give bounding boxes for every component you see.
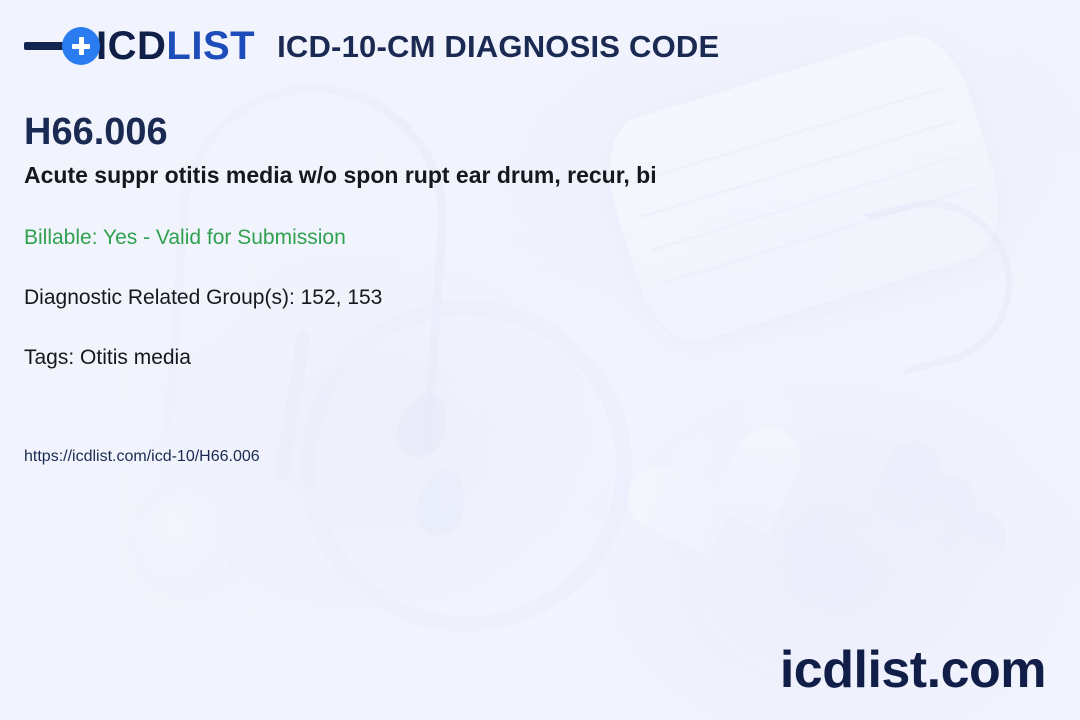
icdlist-logo[interactable]: ICDLIST — [24, 26, 255, 66]
header: ICDLIST ICD-10-CM DIAGNOSIS CODE — [24, 26, 719, 66]
logo-word-list: LIST — [166, 24, 255, 68]
logo-word-icd: ICD — [96, 24, 166, 68]
card-content: ICDLIST ICD-10-CM DIAGNOSIS CODE H66.006… — [0, 0, 1080, 720]
plus-circle-icon — [62, 27, 100, 65]
tags-line: Tags: Otitis media — [24, 345, 191, 370]
footer-brand: icdlist.com — [780, 644, 1046, 696]
logo-wordmark: ICDLIST — [96, 26, 255, 66]
code-details: H66.006 Acute suppr otitis media w/o spo… — [24, 113, 1024, 190]
diagnosis-code: H66.006 — [24, 113, 1024, 153]
billable-status: Billable: Yes - Valid for Submission — [24, 225, 346, 250]
diagnosis-description: Acute suppr otitis media w/o spon rupt e… — [24, 161, 1024, 190]
diagnostic-related-groups: Diagnostic Related Group(s): 152, 153 — [24, 285, 382, 310]
source-url[interactable]: https://icdlist.com/icd-10/H66.006 — [24, 447, 260, 466]
page-title: ICD-10-CM DIAGNOSIS CODE — [277, 31, 719, 62]
icd-code-card: ICDLIST ICD-10-CM DIAGNOSIS CODE H66.006… — [0, 0, 1080, 720]
